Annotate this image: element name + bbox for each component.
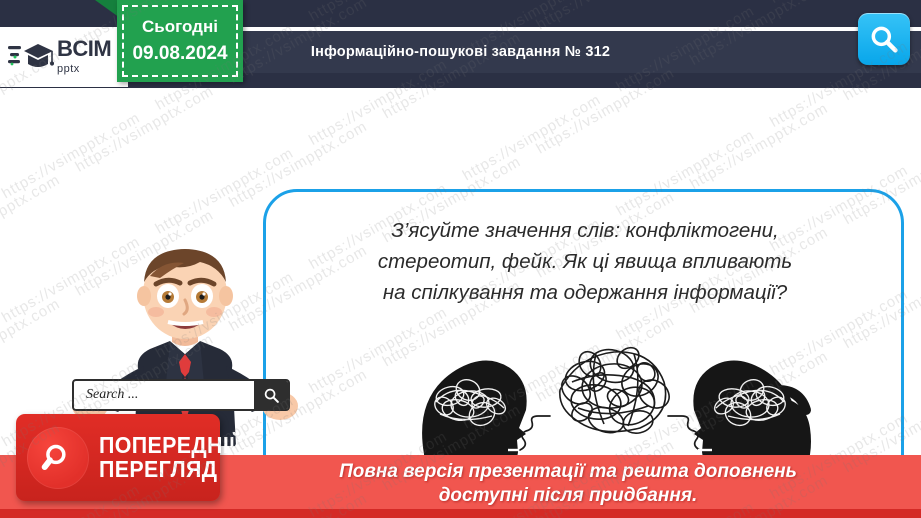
purchase-notice-text: Повна версія презентації та решта доповн… [215, 460, 921, 509]
preview-badge-line-2: ПЕРЕГЛЯД [99, 458, 245, 481]
preview-badge-text: ПОПЕРЕДНІЙ ПЕРЕГЛЯД [99, 434, 256, 481]
question-line-1: З’ясуйте значення слів: конфліктогени, [290, 216, 880, 247]
purchase-notice-line-1: Повна версія презентації та решта доповн… [215, 460, 921, 484]
search-bar-magnifier-icon[interactable] [254, 381, 288, 409]
preview-badge[interactable]: ПОПЕРЕДНІЙ ПЕРЕГЛЯД [16, 414, 220, 501]
search-placeholder-text: Search ... [74, 387, 138, 403]
date-badge-value: 09.08.2024 [132, 40, 227, 69]
search-button[interactable] [858, 13, 910, 65]
question-line-3: на спілкування та одержання інформації? [290, 278, 880, 309]
search-bar-prop: Search ... [72, 379, 290, 411]
brand-logo-text: BCIM pptx [57, 38, 111, 76]
purchase-notice-line-2: доступні після придбання. [215, 484, 921, 508]
brand-subtitle: pptx [57, 63, 80, 75]
preview-magnifier-icon [27, 427, 89, 489]
date-badge: Сьогодні 09.08.2024 [117, 0, 243, 82]
search-input-mock[interactable]: Search ... [72, 379, 290, 411]
slide-canvas: Search ... [0, 0, 921, 518]
magnifier-icon [868, 23, 900, 55]
preview-badge-line-1: ПОПЕРЕДНІЙ [99, 434, 245, 457]
tangled-thought-cloud [556, 343, 674, 437]
date-badge-label: Сьогодні [142, 14, 218, 40]
question-text: З’ясуйте значення слів: конфліктогени, с… [290, 216, 880, 308]
question-line-2: стереотип, фейк. Як ці явища впливають [290, 247, 880, 278]
graduation-cap-icon [8, 40, 54, 74]
